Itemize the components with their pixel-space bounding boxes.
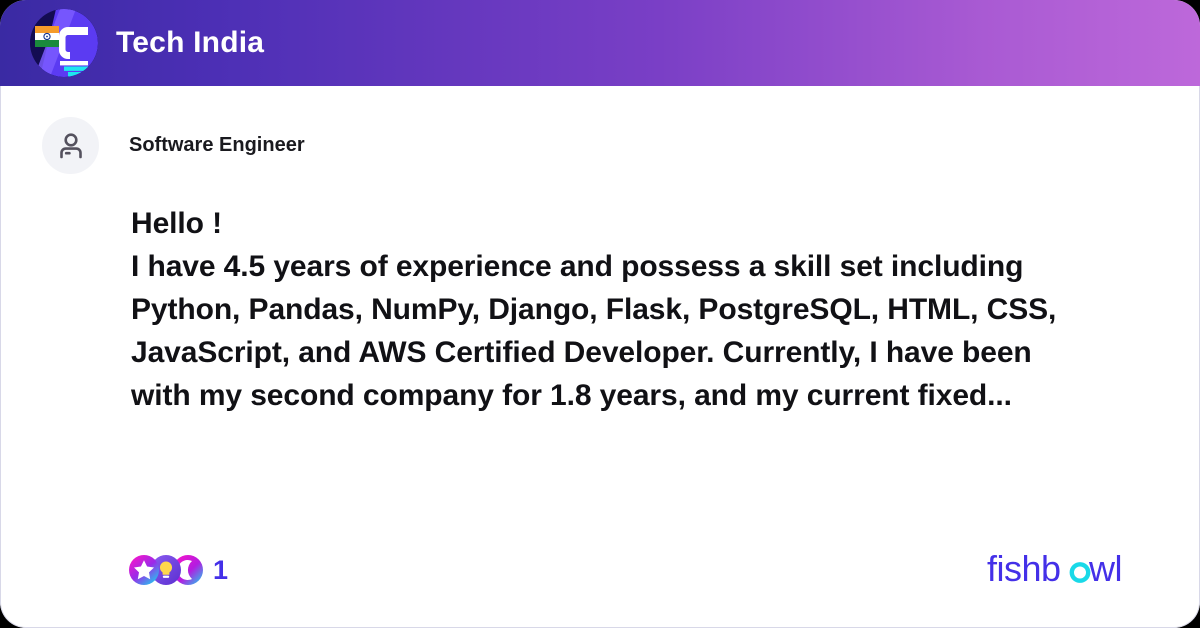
group-title: Tech India	[116, 26, 264, 60]
fishbowl-post-card: Tech India Software Engineer Hello ! I h…	[0, 0, 1200, 628]
post-body-area: Software Engineer Hello ! I have 4.5 yea…	[0, 86, 1200, 628]
group-header: Tech India	[0, 0, 1200, 86]
author-title: Software Engineer	[129, 134, 305, 157]
post-text-line: Hello !	[131, 202, 1135, 245]
post-text-line: Python, Pandas, NumPy, Django, Flask, Po…	[131, 288, 1135, 331]
post-text-line: I have 4.5 years of experience and posse…	[131, 245, 1135, 288]
svg-text:wl: wl	[1088, 548, 1122, 589]
post-text: Hello ! I have 4.5 years of experience a…	[1, 202, 1199, 417]
star-reaction-icon[interactable]	[129, 555, 159, 585]
tech-india-group-logo-icon	[30, 9, 98, 77]
post-author-row: Software Engineer	[1, 86, 1199, 174]
avatar	[42, 117, 99, 174]
post-text-line: with my second company for 1.8 years, an…	[131, 374, 1135, 417]
reactions-group[interactable]: 1	[129, 555, 228, 585]
fishbowl-brand-logo: fishb wl	[987, 548, 1127, 592]
person-icon	[55, 130, 87, 162]
post-footer: 1 fishb wl	[1, 547, 1199, 593]
post-text-line: JavaScript, and AWS Certified Developer.…	[131, 331, 1135, 374]
svg-text:fishb: fishb	[987, 548, 1061, 589]
reaction-count: 1	[213, 557, 228, 584]
reaction-badge-stack[interactable]	[129, 555, 203, 585]
